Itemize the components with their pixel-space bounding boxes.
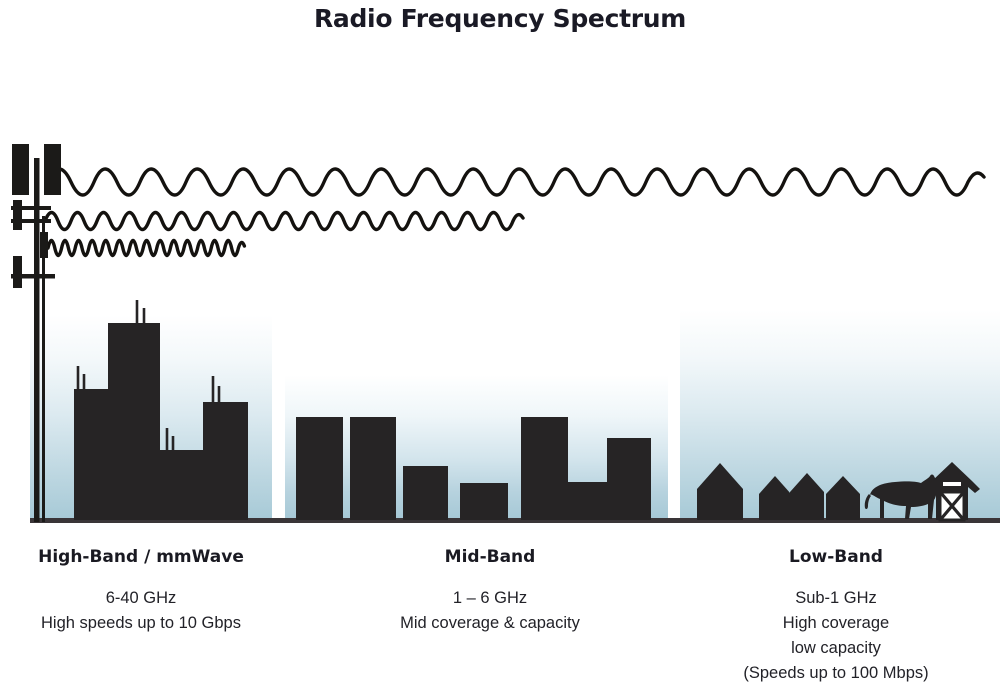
band-frequency-high-band: 6-40 GHz <box>0 586 282 611</box>
band-description-low-band-2: (Speeds up to 100 Mbps) <box>672 661 1000 686</box>
tower-crossbar-2 <box>11 219 51 223</box>
city-building-1 <box>74 389 109 520</box>
antenna-panel-1 <box>12 144 29 195</box>
band-caption-high-band: High-Band / mmWave 6-40 GHz High speeds … <box>0 547 282 636</box>
city-building-4 <box>203 402 248 520</box>
suburb-building-6 <box>568 482 612 520</box>
band-frequency-low-band: Sub-1 GHz <box>672 586 1000 611</box>
band-description-low-band-1: low capacity <box>672 636 1000 661</box>
antenna-panel-4 <box>40 232 48 258</box>
band-description-low-band-0: High coverage <box>672 611 1000 636</box>
high-frequency-wave <box>48 241 244 256</box>
tower-crossbar-3 <box>11 274 55 279</box>
tower-crossbar-1 <box>11 206 51 210</box>
suburb-building-7 <box>607 438 651 520</box>
antenna-panel-2 <box>44 144 61 195</box>
band-description-mid-band-0: Mid coverage & capacity <box>330 611 650 636</box>
suburb-building-5 <box>521 417 568 520</box>
tower-mast-secondary <box>42 216 45 522</box>
band-name-low-band: Low-Band <box>672 547 1000 567</box>
band-caption-mid-band: Mid-Band 1 – 6 GHz Mid coverage & capaci… <box>330 547 650 636</box>
antenna-panel-5 <box>13 256 22 288</box>
low-frequency-wave <box>48 169 984 195</box>
barn-loft-window <box>943 482 961 486</box>
band-name-high-band: High-Band / mmWave <box>0 547 282 567</box>
suburb-building-4 <box>460 483 508 520</box>
band-description-high-band-0: High speeds up to 10 Gbps <box>0 611 282 636</box>
tower-mast <box>34 158 40 522</box>
antenna-panel-3 <box>13 200 22 230</box>
band-frequency-mid-band: 1 – 6 GHz <box>330 586 650 611</box>
city-building-3 <box>160 450 205 520</box>
suburb-building-2 <box>350 417 396 520</box>
mid-frequency-wave <box>45 213 523 230</box>
suburb-building-1 <box>296 417 343 520</box>
suburb-building-3 <box>403 466 448 520</box>
city-building-2 <box>108 323 160 520</box>
band-name-mid-band: Mid-Band <box>330 547 650 567</box>
band-caption-low-band: Low-Band Sub-1 GHz High coverage low cap… <box>672 547 1000 686</box>
radio-waves <box>45 169 984 256</box>
